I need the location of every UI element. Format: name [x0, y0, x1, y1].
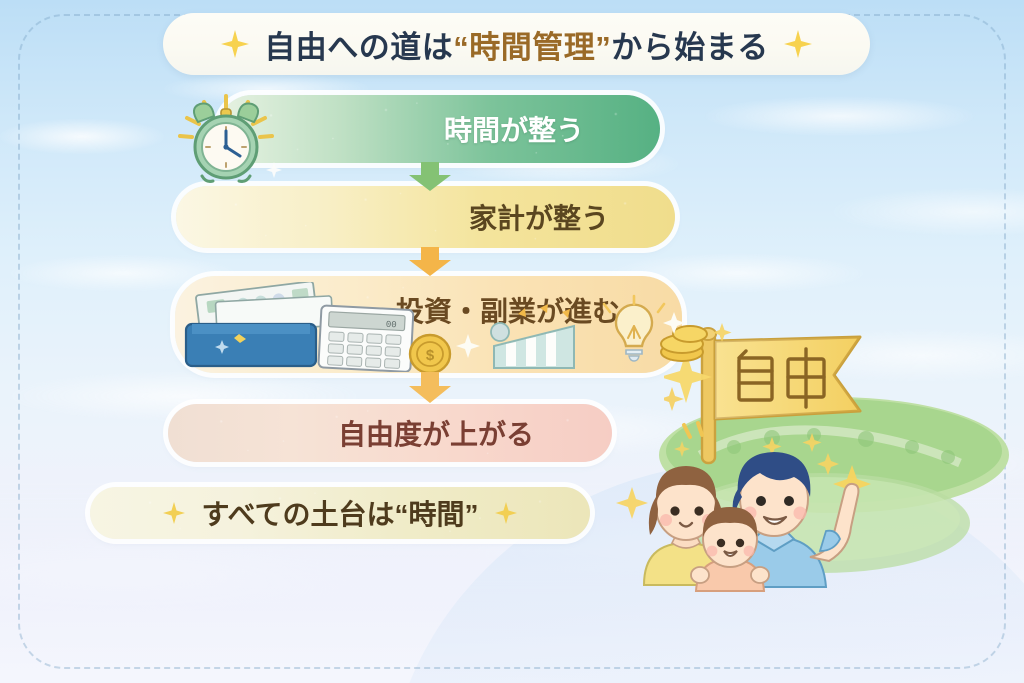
svg-text:$: $: [426, 347, 435, 364]
svg-text:00: 00: [386, 320, 397, 331]
wallet-calculator-coins-icon: 00 $: [182, 282, 602, 372]
title-suffix: から始まる: [611, 30, 769, 65]
page-title: 自由への道は“時間管理”から始まる: [264, 22, 769, 67]
flow-arrow-down: [406, 372, 454, 409]
title-banner: 自由への道は“時間管理”から始まる: [163, 13, 870, 75]
alarm-clock-icon: [168, 92, 296, 184]
title-prefix: 自由への道は: [264, 30, 453, 65]
foundation-label: すべての土台は“時間”: [202, 493, 479, 533]
flow-step-free[interactable]: 自由度が上がる: [168, 404, 612, 462]
sparkle-icon: [162, 501, 186, 525]
flow-step-label: 自由度が上がる: [338, 413, 534, 453]
sparkle-icon: [783, 29, 813, 59]
flow-step-label: 家計が整う: [469, 197, 609, 237]
flow-arrow-down: [406, 162, 454, 197]
sparkle-icon: [494, 501, 518, 525]
foundation-bar[interactable]: すべての土台は“時間”: [90, 487, 590, 539]
family-illustration: [614, 435, 904, 615]
sparkle-icon: [220, 29, 250, 59]
title-highlight: “時間管理”: [453, 30, 611, 65]
flow-step-label: 時間が整う: [444, 109, 584, 149]
lightbulb-coins-icon: [580, 290, 710, 370]
infographic-canvas: 自由への道は“時間管理”から始まる 時間が整う: [0, 0, 1024, 683]
flow-arrow-down: [406, 247, 454, 282]
